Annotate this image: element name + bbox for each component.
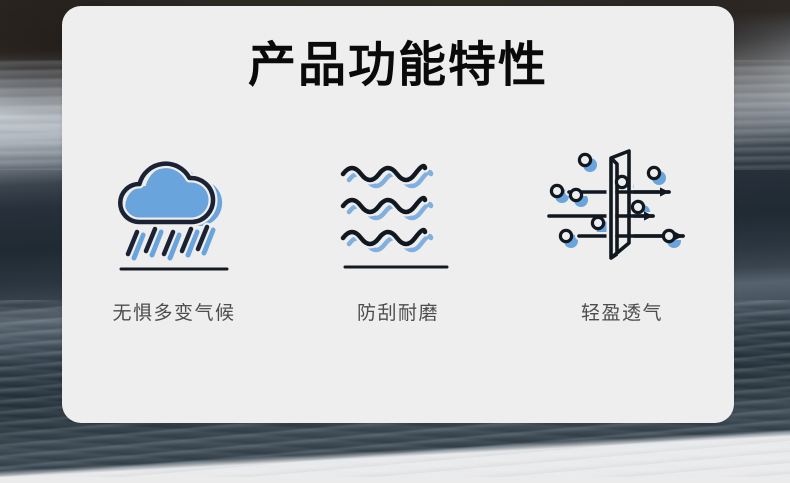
background-bottom-strip	[0, 477, 790, 483]
feature-item-abrasion[interactable]: 防刮耐磨	[298, 142, 498, 325]
feature-label-abrasion: 防刮耐磨	[357, 298, 439, 325]
wavy-lines-icon	[323, 142, 473, 272]
feature-label-breathable: 轻盈透气	[581, 298, 663, 325]
breathable-membrane-icon	[547, 142, 697, 272]
feature-list: 无惧多变气候	[62, 142, 734, 325]
feature-label-weather: 无惧多变气候	[112, 298, 235, 325]
feature-item-weather[interactable]: 无惧多变气候	[74, 142, 274, 325]
promo-banner: 产品功能特性	[0, 0, 790, 483]
page-title: 产品功能特性	[62, 42, 734, 90]
feature-card: 产品功能特性	[62, 6, 734, 423]
feature-item-breathable[interactable]: 轻盈透气	[522, 142, 722, 325]
rain-cloud-icon	[99, 142, 249, 272]
